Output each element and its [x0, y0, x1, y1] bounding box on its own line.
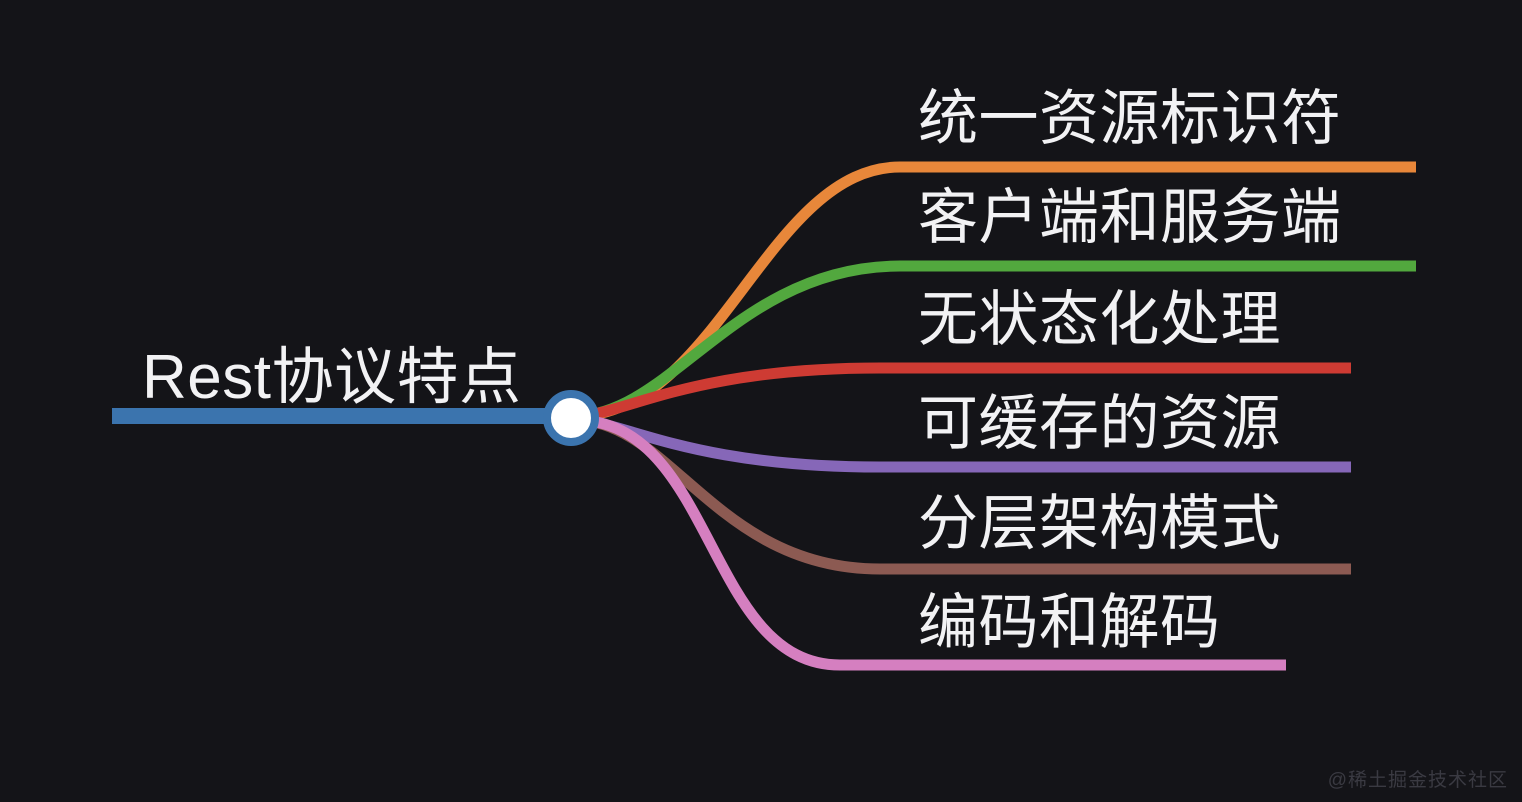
- branch-label-4[interactable]: 可缓存的资源: [918, 389, 1281, 459]
- branch-label-3[interactable]: 无状态化处理: [918, 285, 1281, 355]
- root-node-label[interactable]: Rest协议特点: [142, 342, 521, 414]
- watermark: @稀土掘金技术社区: [1328, 765, 1508, 792]
- branch-label-2[interactable]: 客户端和服务端: [918, 183, 1342, 253]
- branch-label-5[interactable]: 分层架构模式: [918, 489, 1281, 559]
- branch-label-1[interactable]: 统一资源标识符: [918, 84, 1342, 154]
- root-node-circle[interactable]: [547, 394, 595, 442]
- branch-label-6[interactable]: 编码和解码: [918, 588, 1221, 658]
- root-node: [547, 394, 595, 442]
- mindmap-canvas: Rest协议特点 统一资源标识符 客户端和服务端 无状态化处理 可缓存的资源 分…: [0, 0, 1522, 802]
